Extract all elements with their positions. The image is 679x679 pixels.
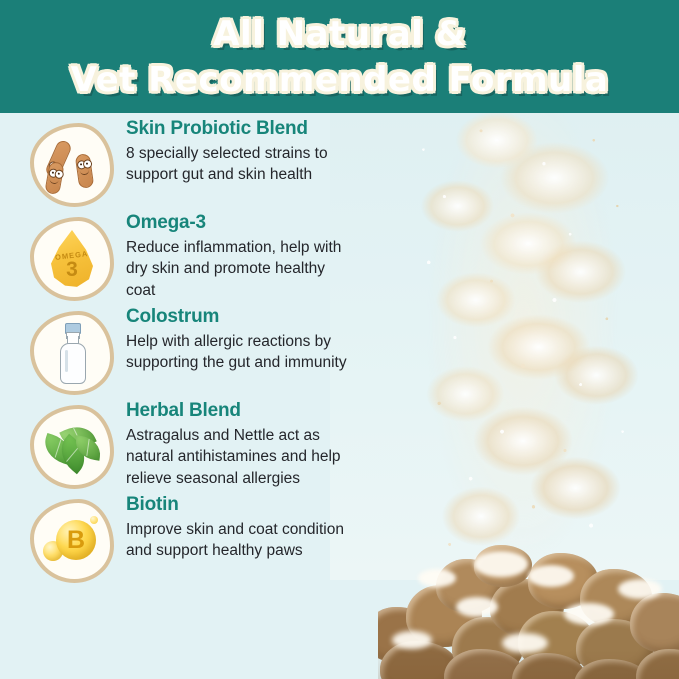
probiotic-bacteria-icon bbox=[30, 123, 114, 207]
oil-droplet: OMEGA 3 bbox=[47, 230, 97, 288]
powder-sprinkle bbox=[618, 579, 662, 599]
feature-text: Colostrum Help with allergic reactions b… bbox=[126, 305, 400, 374]
feature-text: Skin Probiotic Blend 8 specially selecte… bbox=[126, 117, 400, 186]
powder-sprinkle bbox=[564, 603, 614, 625]
photo-bottom-shadow bbox=[378, 650, 679, 679]
probiotic-characters bbox=[45, 136, 99, 194]
icon-art bbox=[30, 123, 114, 207]
icon-art bbox=[30, 311, 114, 395]
feature-heading: Biotin bbox=[126, 495, 400, 516]
biotin-capsule-icon: B bbox=[30, 499, 114, 583]
bottle-body bbox=[60, 343, 86, 384]
powder-sprinkle bbox=[456, 597, 498, 617]
icon-art: OMEGA 3 bbox=[30, 217, 114, 301]
feature-heading: Herbal Blend bbox=[126, 401, 400, 422]
bacteria-mouth bbox=[49, 177, 59, 184]
bacteria-mouth bbox=[80, 168, 90, 175]
feature-item-skin-probiotic-blend: Skin Probiotic Blend 8 specially selecte… bbox=[0, 113, 400, 207]
feature-text: Biotin Improve skin and coat condition a… bbox=[126, 493, 400, 562]
omega-3-droplet-icon: OMEGA 3 bbox=[30, 217, 114, 301]
feature-text: Omega-3 Reduce inflammation, help with d… bbox=[126, 211, 400, 301]
infographic-page: All Natural & Vet Recommended Formula bbox=[0, 0, 679, 679]
header-banner: All Natural & Vet Recommended Formula bbox=[0, 0, 679, 113]
feature-item-omega-3: OMEGA 3 Omega-3 Reduce inflammation, hel… bbox=[0, 207, 400, 301]
powder-sprinkle bbox=[392, 631, 432, 649]
powder-sprinkle bbox=[418, 569, 456, 587]
milk-bottle bbox=[57, 323, 87, 383]
feature-item-herbal-blend: Herbal Blend Astragalus and Nettle act a… bbox=[0, 395, 400, 489]
herb-leaves-icon bbox=[30, 405, 114, 489]
feature-body: Astragalus and Nettle act as natural ant… bbox=[126, 425, 358, 489]
header-title-line-2: Vet Recommended Formula bbox=[71, 63, 609, 97]
nettle-leaves bbox=[41, 421, 103, 473]
omega-label: OMEGA bbox=[55, 249, 89, 262]
icon-art bbox=[30, 405, 114, 489]
feature-body: Improve skin and coat condition and supp… bbox=[126, 519, 358, 562]
header-title-line-1: All Natural & bbox=[213, 17, 466, 51]
feature-heading: Skin Probiotic Blend bbox=[126, 119, 400, 140]
feature-heading: Omega-3 bbox=[126, 213, 400, 234]
feature-list: Skin Probiotic Blend 8 specially selecte… bbox=[0, 113, 400, 583]
bacteria-rod bbox=[75, 153, 95, 189]
feature-body: Help with allergic reactions by supporti… bbox=[126, 331, 358, 374]
powder-grain-texture bbox=[392, 112, 654, 582]
feature-body: Reduce inflammation, help with dry skin … bbox=[126, 237, 358, 301]
biotin-letter: B bbox=[67, 528, 85, 553]
biotin-main-bubble: B bbox=[56, 520, 96, 560]
feature-item-biotin: B Biotin Improve skin and coat condition… bbox=[0, 489, 400, 583]
milk-bottle-icon bbox=[30, 311, 114, 395]
feature-heading: Colostrum bbox=[126, 307, 400, 328]
feature-body: 8 specially selected strains to support … bbox=[126, 143, 358, 186]
feature-item-colostrum: Colostrum Help with allergic reactions b… bbox=[0, 301, 400, 395]
powder-sprinkle bbox=[528, 565, 574, 587]
icon-art: B bbox=[30, 499, 114, 583]
omega-number: 3 bbox=[66, 259, 78, 280]
biotin-dot bbox=[90, 516, 98, 524]
powder-sprinkle bbox=[474, 551, 528, 577]
biotin-bubbles: B bbox=[43, 514, 101, 568]
feature-text: Herbal Blend Astragalus and Nettle act a… bbox=[126, 399, 400, 489]
